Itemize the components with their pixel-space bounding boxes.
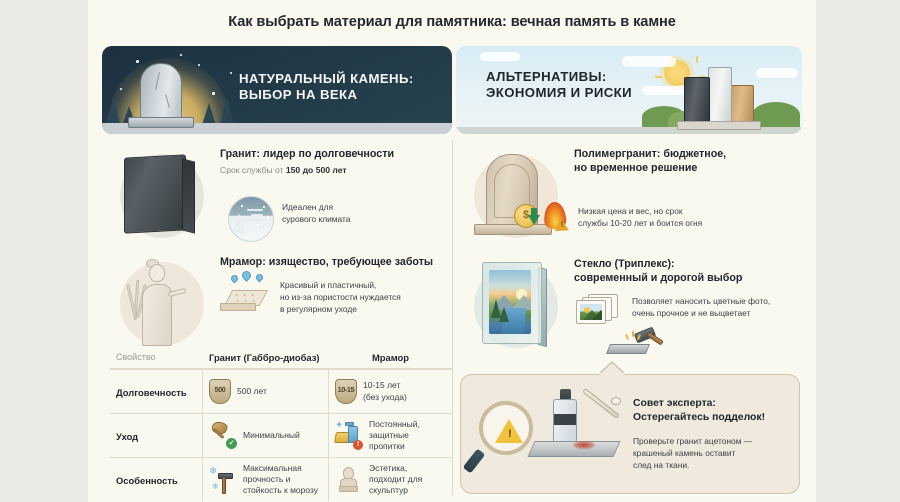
magnifier-warning-icon: ! xyxy=(479,401,533,455)
granite-stone-side xyxy=(182,158,195,233)
granite-subtitle-prefix: Срок службы от xyxy=(220,165,286,175)
cloud-icon xyxy=(756,68,798,78)
marble-block: Мрамор: изящество, требующее заботы xyxy=(102,252,452,344)
polymer-block: Полимергранит: бюджетное, но временное р… xyxy=(456,144,802,250)
granite-subtitle: Срок службы от 150 до 500 лет xyxy=(220,165,452,177)
row-label: Уход xyxy=(116,431,138,442)
table-header-row: Свойство Гранит (Габбро-диобаз) Мрамор xyxy=(110,346,452,369)
cell-text: Минимальный xyxy=(243,430,300,441)
cell-text: Постоянный, защитные пропитки xyxy=(369,419,420,453)
greek-statue-icon xyxy=(132,258,180,346)
banner-heading-left: НАТУРАЛЬНЫЙ КАМЕНЬ: ВЫБОР НА ВЕКА xyxy=(239,71,414,103)
marble-heading: Мрамор: изящество, требующее заботы xyxy=(220,256,452,270)
brush-check-icon: ✓ xyxy=(209,421,237,451)
marble-bust-icon xyxy=(335,465,363,495)
star-icon xyxy=(212,92,215,95)
table-col-granite: Гранит (Габбро-диобаз) xyxy=(209,352,320,363)
table-col-property: Свойство xyxy=(116,352,156,362)
winter-climate-icon xyxy=(228,196,274,242)
marble-note: Красивый и пластичный, но из-за пористос… xyxy=(280,280,401,316)
expert-tip-callout: ! Совет эксперта: Остерегайтесь подделок… xyxy=(460,374,800,494)
star-icon xyxy=(120,88,122,90)
row-label: Долговечность xyxy=(116,387,187,398)
glass-heading: Стекло (Триплекс): современный и дорогой… xyxy=(574,258,806,286)
row-label: Особенность xyxy=(116,475,178,486)
table-row: Долговечность 500 500 лет 10-15 10-15 ле… xyxy=(110,369,452,413)
alternatives-banner: АЛЬТЕРНАТИВЫ: ЭКОНОМИЯ И РИСКИ xyxy=(456,46,802,134)
content-panel: Как выбрать материал для памятника: вечн… xyxy=(88,0,816,502)
table-col-marble: Мрамор xyxy=(372,352,409,363)
right-column: АЛЬТЕРНАТИВЫ: ЭКОНОМИЯ И РИСКИ Полимергр… xyxy=(456,46,802,498)
sun-ray xyxy=(655,76,662,78)
sun-ray xyxy=(696,56,698,63)
stone-monument-icon xyxy=(140,63,182,125)
cell-text: 10-15 лет (без ухода) xyxy=(363,380,407,402)
pine-tree-icon xyxy=(220,98,234,124)
hammer-anvil-icon xyxy=(606,328,660,362)
star-icon xyxy=(180,54,182,56)
granite-subtitle-value: 150 до 500 лет xyxy=(286,165,347,175)
infographic-page: Как выбрать материал для памятника: вечн… xyxy=(0,0,900,502)
acetone-stain xyxy=(573,441,595,449)
cloud-icon xyxy=(642,86,686,95)
dark-slab-icon xyxy=(684,77,710,127)
sponge-spray-warning-icon: ✦ ! xyxy=(335,421,363,451)
pine-tree-icon xyxy=(106,98,120,124)
white-slab-icon xyxy=(708,67,732,127)
glass-block: Стекло (Триплекс): современный и дорогой… xyxy=(456,254,802,364)
granite-heading: Гранит: лидер по долговечности xyxy=(220,148,452,162)
cell-text: Максимальная прочность и стойкость к мор… xyxy=(243,463,318,497)
natural-stone-banner: НАТУРАЛЬНЫЙ КАМЕНЬ: ВЫБОР НА ВЕКА xyxy=(102,46,452,134)
monument-base xyxy=(128,117,194,128)
cell-text: 500 лет xyxy=(237,386,267,397)
banner-heading-right: АЛЬТЕРНАТИВЫ: ЭКОНОМИЯ И РИСКИ xyxy=(486,69,632,101)
slab-plinth xyxy=(677,121,761,130)
granite-note: Идеален для сурового климата xyxy=(282,202,350,226)
table-row: Уход ✓ Минимальный xyxy=(110,413,452,457)
glass-art xyxy=(462,254,570,354)
left-column: НАТУРАЛЬНЫЙ КАМЕНЬ: ВЫБОР НА ВЕКА Гранит… xyxy=(102,46,452,498)
marble-art xyxy=(108,252,216,352)
granite-stone-icon xyxy=(124,154,186,233)
polymer-note: Низкая цена и вес, но срок службы 10-20 … xyxy=(578,206,702,230)
marble-text: Мрамор: изящество, требующее заботы xyxy=(220,256,452,270)
callout-arrow xyxy=(599,363,625,375)
tip-body: Проверьте гранит ацетоном — крашеный кам… xyxy=(633,435,793,472)
acetone-bottle-icon xyxy=(553,399,577,443)
glass-triplex-landscape-icon xyxy=(482,262,542,344)
granite-text: Гранит: лидер по долговечности Срок служ… xyxy=(220,148,452,177)
snowflake-hammer-icon: ❄ ❄ xyxy=(209,465,237,495)
magnifier-handle xyxy=(463,448,486,473)
color-photos-icon xyxy=(576,294,622,328)
monument-base xyxy=(474,224,552,235)
star-icon xyxy=(198,64,200,66)
polymer-text: Полимергранит: бюджетное, но временное р… xyxy=(574,148,806,176)
pine-tree-icon xyxy=(202,103,216,125)
granite-art xyxy=(108,144,216,244)
star-icon xyxy=(136,60,139,63)
polymer-heading: Полимергранит: бюджетное, но временное р… xyxy=(574,148,806,176)
glass-note: Позволяет наносить цветные фото, очень п… xyxy=(632,296,770,320)
coin-down-arrow-icon: $ xyxy=(514,204,538,228)
cotton-swab-tip xyxy=(611,397,621,405)
page-title: Как выбрать материал для памятника: вечн… xyxy=(88,14,816,30)
table-row: Особенность ❄ ❄ Максимальная прочность и… xyxy=(110,457,452,501)
granite-block: Гранит: лидер по долговечности Срок служ… xyxy=(102,144,452,250)
shield-icon: 500 xyxy=(209,379,231,404)
shield-icon: 10-15 xyxy=(335,379,357,404)
column-divider xyxy=(452,140,453,495)
cell-text: Эстетика, подходит для скульптур xyxy=(369,463,422,497)
porous-slab-water-drops-icon xyxy=(228,286,270,314)
comparison-table: Свойство Гранит (Габбро-диобаз) Мрамор Д… xyxy=(110,346,452,501)
cloud-icon xyxy=(622,56,676,67)
glass-text: Стекло (Триплекс): современный и дорогой… xyxy=(574,258,806,286)
tip-heading: Совет эксперта: Остерегайтесь подделок! xyxy=(633,397,765,424)
cloud-icon xyxy=(480,52,520,61)
star-icon xyxy=(230,72,232,74)
